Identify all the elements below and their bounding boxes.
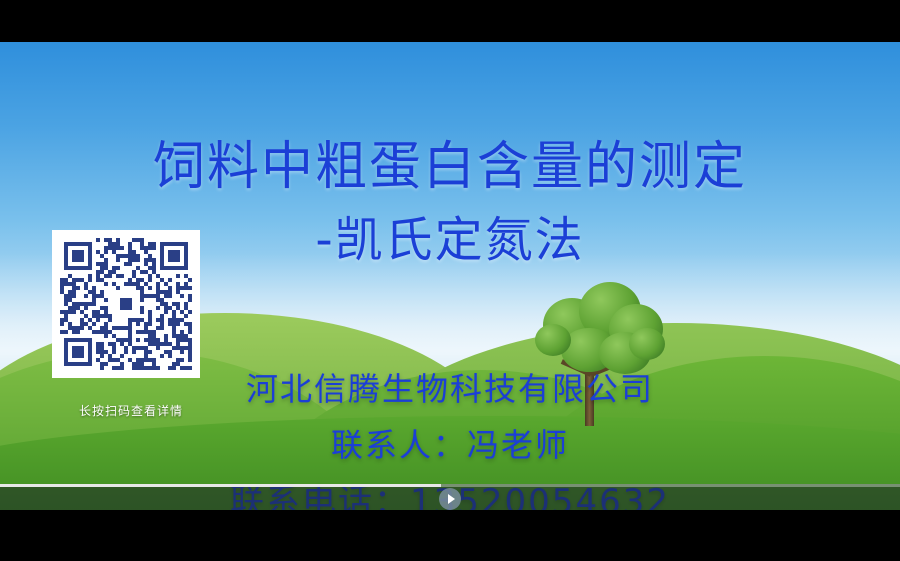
tree-foliage <box>535 324 571 356</box>
video-frame: 饲料中粗蛋白含量的测定 -凯氏定氮法 长按扫码查看详情 河北信腾生物科技有限公司… <box>0 0 900 561</box>
letterbox-top <box>0 0 900 42</box>
progress-fill <box>0 484 441 487</box>
play-triangle <box>448 494 455 504</box>
letterbox-bottom <box>0 510 900 561</box>
slide-content: 饲料中粗蛋白含量的测定 -凯氏定氮法 长按扫码查看详情 河北信腾生物科技有限公司… <box>0 42 900 510</box>
page-title: 饲料中粗蛋白含量的测定 <box>0 124 900 199</box>
play-icon[interactable] <box>439 488 461 510</box>
tree-foliage <box>629 328 665 360</box>
progress-track[interactable] <box>0 484 900 487</box>
qr-code-image[interactable] <box>60 238 192 370</box>
company-name: 河北信腾生物科技有限公司 <box>0 364 900 410</box>
video-control-bar[interactable] <box>0 484 900 510</box>
qr-code-card[interactable] <box>52 230 200 378</box>
contact-person: 联系人：冯老师 <box>0 420 900 466</box>
